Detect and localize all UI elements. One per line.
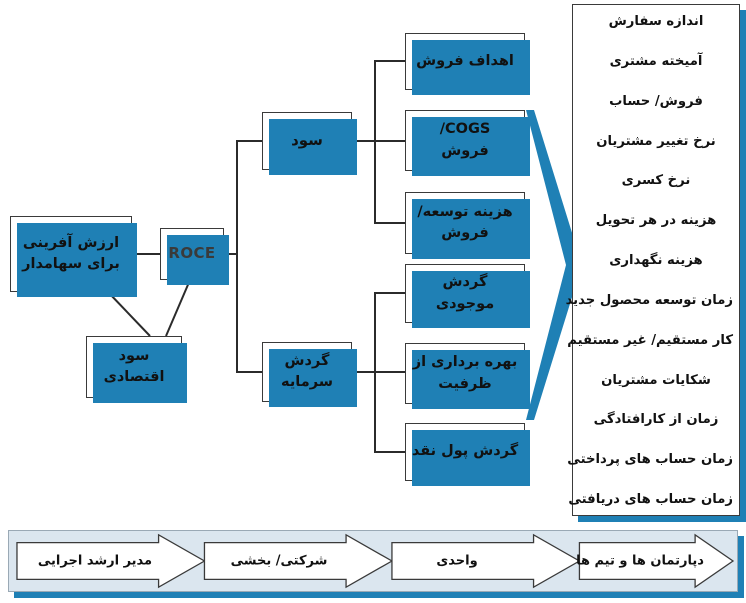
band-step-label: دپارتمان ها و تیم ها bbox=[565, 554, 715, 569]
kpi-item: زمان حساب های پرداختی bbox=[579, 451, 733, 469]
node-capital-turnover[interactable]: گردش سرمایه bbox=[262, 342, 352, 402]
node-cash-turnover[interactable]: گردش پول نقد bbox=[405, 423, 525, 481]
node-roce[interactable]: ROCE bbox=[160, 228, 224, 280]
kpi-panel: اندازه سفارش آمیخته مشتری فروش/ حساب نرخ… bbox=[572, 4, 740, 516]
kpi-item: هزینه در هر تحویل bbox=[579, 212, 733, 230]
node-label: بهره برداری از ظرفیت bbox=[409, 352, 522, 394]
node-label: COGS/ فروش bbox=[436, 119, 495, 161]
node-economic-profit[interactable]: سود اقتصادی bbox=[86, 336, 182, 398]
node-shareholder-value[interactable]: ارزش آفرینی برای سهامدار bbox=[10, 216, 132, 292]
kpi-item: کار مستقیم/ غیر مستقیم bbox=[579, 332, 733, 350]
node-dev-cost-sales[interactable]: هزینه توسعه/ فروش bbox=[405, 192, 525, 254]
kpi-item: فروش/ حساب bbox=[579, 93, 733, 111]
node-label: ROCE bbox=[164, 243, 219, 265]
kpi-item: آمیخته مشتری bbox=[579, 53, 733, 71]
kpi-item: زمان توسعه محصول جدید bbox=[579, 292, 733, 310]
kpi-item: اندازه سفارش bbox=[579, 13, 733, 31]
node-cogs-sales[interactable]: COGS/ فروش bbox=[405, 110, 525, 171]
band-step-label: مدیر ارشد اجرایی bbox=[25, 554, 165, 569]
node-label: ارزش آفرینی برای سهامدار bbox=[18, 233, 124, 275]
kpi-item: نرخ تغییر مشتریان bbox=[579, 133, 733, 151]
node-sales-targets[interactable]: اهداف فروش bbox=[405, 33, 525, 90]
kpi-item: زمان حساب های دریافتی bbox=[579, 491, 733, 509]
node-capacity-utilization[interactable]: بهره برداری از ظرفیت bbox=[405, 343, 525, 404]
node-label: گردش سرمایه bbox=[277, 351, 337, 393]
node-inventory-turnover[interactable]: گردش موجودی bbox=[405, 264, 525, 323]
kpi-item: شکایات مشتریان bbox=[579, 372, 733, 390]
kpi-item: زمان از کارافتادگی bbox=[579, 411, 733, 429]
node-label: سود اقتصادی bbox=[100, 346, 169, 388]
node-label: هزینه توسعه/ فروش bbox=[413, 202, 516, 244]
kpi-item: هزینه نگهداری bbox=[579, 252, 733, 270]
node-label: گردش پول نقد bbox=[408, 441, 522, 462]
node-label: گردش موجودی bbox=[432, 272, 498, 314]
node-label: اهداف فروش bbox=[412, 51, 518, 72]
node-label: سود bbox=[287, 130, 327, 152]
band-step-label: واحدی bbox=[397, 554, 517, 569]
diagram-canvas: ارزش آفرینی برای سهامدار ROCE سود اقتصاد… bbox=[0, 0, 746, 603]
node-profit[interactable]: سود bbox=[262, 112, 352, 170]
responsibility-band: مدیر ارشد اجرایی شرکتی/ بخشی واحدی دپارت… bbox=[8, 530, 738, 592]
kpi-item: نرخ کسری bbox=[579, 172, 733, 190]
band-step-label: شرکتی/ بخشی bbox=[209, 554, 349, 569]
